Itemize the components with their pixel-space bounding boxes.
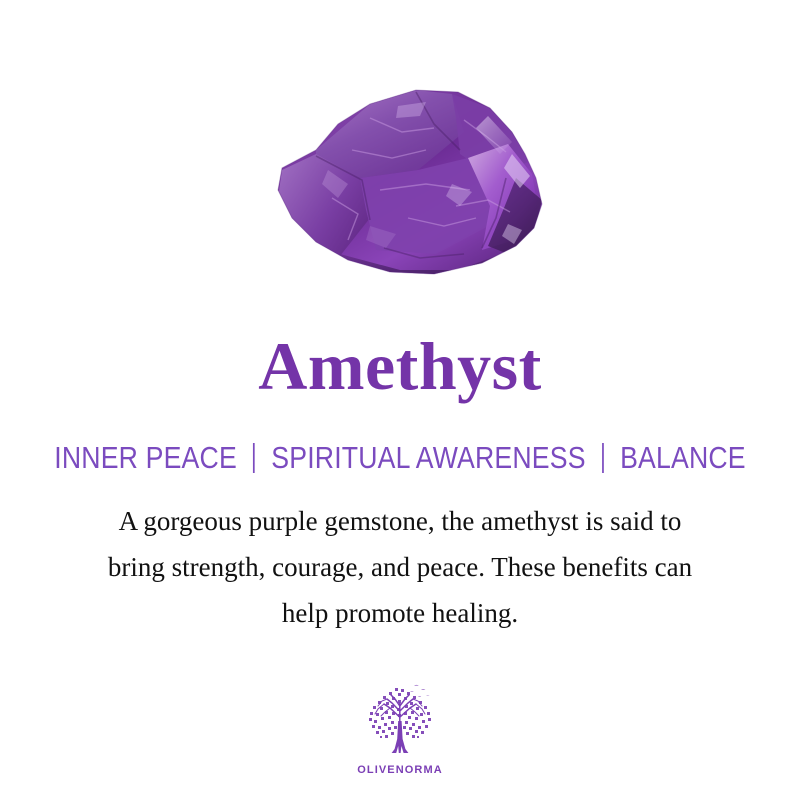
keyword-separator-icon: [602, 443, 604, 473]
keyword-strip: INNER PEACE SPIRITUAL AWARENESS BALANCE: [56, 441, 744, 475]
brand-wordmark: OLIVENORMA: [0, 764, 800, 776]
description-line: A gorgeous purple gemstone, the amethyst…: [55, 498, 745, 544]
tree-icon: [354, 683, 446, 763]
description-line: help promote healing.: [55, 590, 745, 636]
page-title: Amethyst: [0, 330, 800, 402]
amethyst-product-card: Amethyst INNER PEACE SPIRITUAL AWARENESS…: [0, 0, 800, 800]
product-description: A gorgeous purple gemstone, the amethyst…: [55, 498, 745, 636]
brand-logo: OLIVENORMA: [0, 683, 800, 776]
keyword-separator-icon: [253, 443, 255, 473]
keyword-spiritual-awareness: SPIRITUAL AWARENESS: [263, 441, 595, 475]
keyword-inner-peace: INNER PEACE: [46, 441, 246, 475]
description-line: bring strength, courage, and peace. Thes…: [55, 544, 745, 590]
birds-icon: [410, 685, 430, 697]
amethyst-crystal-illustration: [220, 58, 580, 298]
amethyst-crystal-image: [0, 58, 800, 308]
keyword-balance: BALANCE: [611, 441, 754, 475]
